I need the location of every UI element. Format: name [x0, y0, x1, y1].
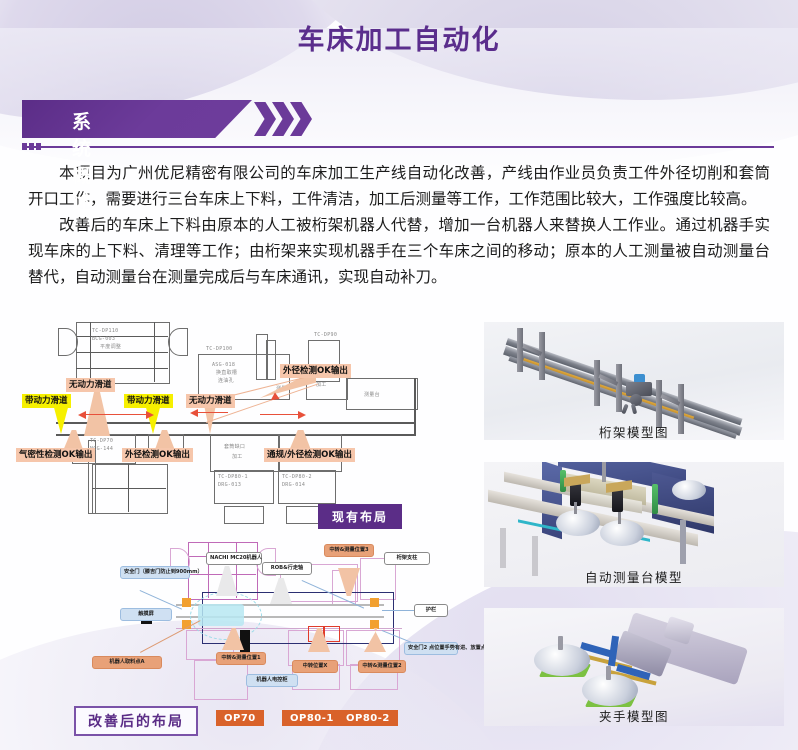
station-leg — [500, 528, 506, 568]
cad-measuring-bench — [346, 378, 418, 410]
gantry-pillar-marker — [370, 620, 379, 629]
cad-line — [128, 464, 129, 512]
cad-text-bcg-003: BCG-003 — [92, 336, 115, 343]
cad-fixture-group — [92, 464, 168, 514]
callout-safety-door-2: 安全门2 点位置手势有进、放置点位置等保护 — [404, 642, 458, 655]
workpiece-disc — [600, 520, 644, 546]
op-box-op80-2: OP80-2 — [338, 710, 398, 726]
cad-arc-right — [168, 328, 188, 356]
callout-nachi-robot: NACHI MC20机器人 — [206, 552, 262, 565]
workpiece-shaft — [558, 636, 563, 650]
callout-robot-cabinet: 机器人电控柜 — [246, 674, 298, 687]
badge-improved-layout: 改善后的布局 — [74, 706, 198, 736]
caption-gantry: 桁架模型图 — [484, 422, 784, 440]
green-cylinder — [652, 484, 658, 514]
callout-qimixing-ok: 气密性检测OK输出 — [16, 448, 95, 462]
op-box-op70: OP70 — [216, 710, 264, 726]
badge-current-layout: 现有布局 — [318, 504, 402, 529]
cad-text-celiangtai: 测量台 — [364, 392, 380, 399]
flow-arrow-line — [198, 412, 228, 413]
workpiece-shaft — [606, 666, 611, 680]
plan-line — [236, 542, 237, 598]
improved-layout-diagram: 安全门（滕吉门防止到900mm） 触摸屏 机器人取料点A NACHI MC20机… — [70, 534, 470, 734]
plan-line — [208, 542, 209, 598]
cad-text-jiagong2: 加工 — [232, 454, 243, 461]
slide-root: 车床加工自动化 系统概述 本项目为广州优尼精密有限公司的车床加工生产线自动化改善… — [0, 0, 798, 750]
workpiece-disc — [556, 510, 600, 536]
page-title: 车床加工自动化 — [0, 18, 798, 57]
cad-column — [266, 340, 276, 380]
banner-shape — [22, 100, 252, 138]
cad-text-tc-dp90: TC-DP90 — [314, 332, 337, 339]
flow-arrow-head-right — [298, 411, 306, 419]
callout-transfer-position-x: 中转位置X — [292, 660, 338, 673]
cad-line — [154, 322, 155, 382]
cad-text-tc-dp100: TC-DP100 — [206, 346, 232, 353]
callout-waijing-ok-2: 外径检测OK输出 — [122, 448, 193, 462]
section-divider — [22, 146, 774, 148]
gantry-leg — [539, 332, 545, 380]
callout-guard-rail: 护栏 — [414, 604, 448, 617]
caption-measuring-station: 自动测量台模型 — [484, 567, 784, 586]
gantry-pillar-marker — [182, 598, 191, 607]
flow-arrow-line — [260, 414, 300, 415]
workpiece-disc — [672, 480, 706, 500]
station-leg — [680, 520, 686, 564]
callout-daidongli-2: 带动力滑道 — [124, 394, 173, 408]
cad-text-tc-dp70: TC-DP70 — [90, 438, 113, 445]
paragraph-1: 本项目为广州优尼精密有限公司的车床加工生产线自动化改善，产线由作业员负责工件外径… — [28, 160, 770, 212]
callout-cone — [84, 388, 110, 436]
callout-transfer-measure-3: 中转&测量位置3 — [324, 544, 374, 557]
callout-daidongli-1: 带动力滑道 — [22, 394, 71, 408]
cad-text-tc-dp110: TC-DP110 — [92, 328, 118, 335]
flow-arrow-line — [114, 414, 148, 415]
workpiece-shaft — [574, 502, 577, 514]
cad-text-lianyoukong: 连油孔 — [218, 378, 234, 385]
cad-pallet — [224, 506, 264, 524]
callout-transfer-measure-1: 中转&测量位置1 — [216, 652, 266, 665]
callout-robot-pickup-a: 机器人取料点A — [92, 656, 162, 669]
cad-text-pingdu: 平度调整 — [100, 344, 121, 351]
cad-text-drg-014: DRG-014 — [282, 482, 305, 489]
cad-line — [92, 488, 166, 489]
flow-arrow-head-left — [78, 411, 86, 419]
divider-dots — [22, 143, 41, 150]
cad-text-huanzhi: 换直取槽 — [216, 370, 237, 377]
paragraph-2: 改善后的车床上下料由原本的人工被桁架机器人代替，增加一台机器人来替换人工作业。通… — [28, 212, 770, 290]
callout-safety-door-1: 安全门（滕吉门防止到900mm） — [120, 566, 190, 579]
workpiece-shaft — [618, 512, 621, 524]
callout-touch-panel: 触摸屏 — [120, 608, 172, 621]
leader-line — [140, 590, 182, 610]
gantry-leg — [656, 380, 662, 428]
cad-line — [90, 322, 91, 382]
plan-fixture — [194, 660, 248, 700]
callout-waijing-ok-1: 外径检测OK输出 — [280, 364, 351, 378]
auto-measuring-station-image: 自动测量台模型 — [484, 462, 784, 587]
cad-text-drg-013: DRG-013 — [218, 482, 241, 489]
plan-marker — [324, 626, 340, 642]
gantry-leg — [517, 328, 523, 372]
section-header: 系统概述 — [22, 100, 774, 155]
callout-transfer-measure-2: 中转&测量位置2 — [358, 660, 406, 673]
gantry-model-image: 桁架模型图 — [484, 322, 784, 440]
gripper-finger — [621, 404, 628, 415]
flow-arrow-head-left — [190, 409, 198, 417]
cad-line — [414, 378, 416, 436]
caption-gripper: 夹手模型图 — [484, 706, 784, 725]
body-copy: 本项目为广州优尼精密有限公司的车床加工生产线自动化改善，产线由作业员负责工件外径… — [28, 160, 770, 290]
callout-rob-travel-axis: ROB&行走轴 — [262, 562, 312, 575]
cad-arc-left — [58, 328, 78, 356]
callout-tonggui-waijing-ok: 通规/外径检测OK输出 — [264, 448, 355, 462]
flow-arrow-head-right — [146, 411, 154, 419]
gantry-pillar-marker — [370, 598, 379, 607]
robot-reach-circle — [190, 592, 262, 640]
cad-text-tc-dp80-2: TC-DP80-2 — [282, 474, 312, 481]
callout-wudongli-1: 无动力滑道 — [66, 378, 115, 392]
chevron-right-icon — [254, 102, 276, 136]
cad-text-taotongquekou: 套筒缺口 — [224, 444, 245, 451]
section-label: 系统概述 — [72, 107, 94, 215]
callout-gantry-pillar: 桁架支柱 — [384, 552, 430, 565]
cad-text-asg-018: ASG-018 — [212, 362, 235, 369]
callout-wudongli-2: 无动力滑道 — [186, 394, 235, 408]
cad-text-tc-dp80-1: TC-DP80-1 — [218, 474, 248, 481]
measuring-column — [602, 462, 606, 482]
op-box-op80-1: OP80-1 — [282, 710, 342, 726]
leader-line — [382, 610, 414, 611]
gantry-leg — [594, 360, 600, 406]
gantry-leg — [616, 364, 622, 412]
cad-conveyor-top — [56, 422, 416, 424]
gripper-model-image: 夹手模型图 — [484, 608, 784, 726]
current-layout-diagram: TC-DP110 BCG-003 平度调整 TC-DP100 ASG-018 换… — [28, 322, 468, 532]
